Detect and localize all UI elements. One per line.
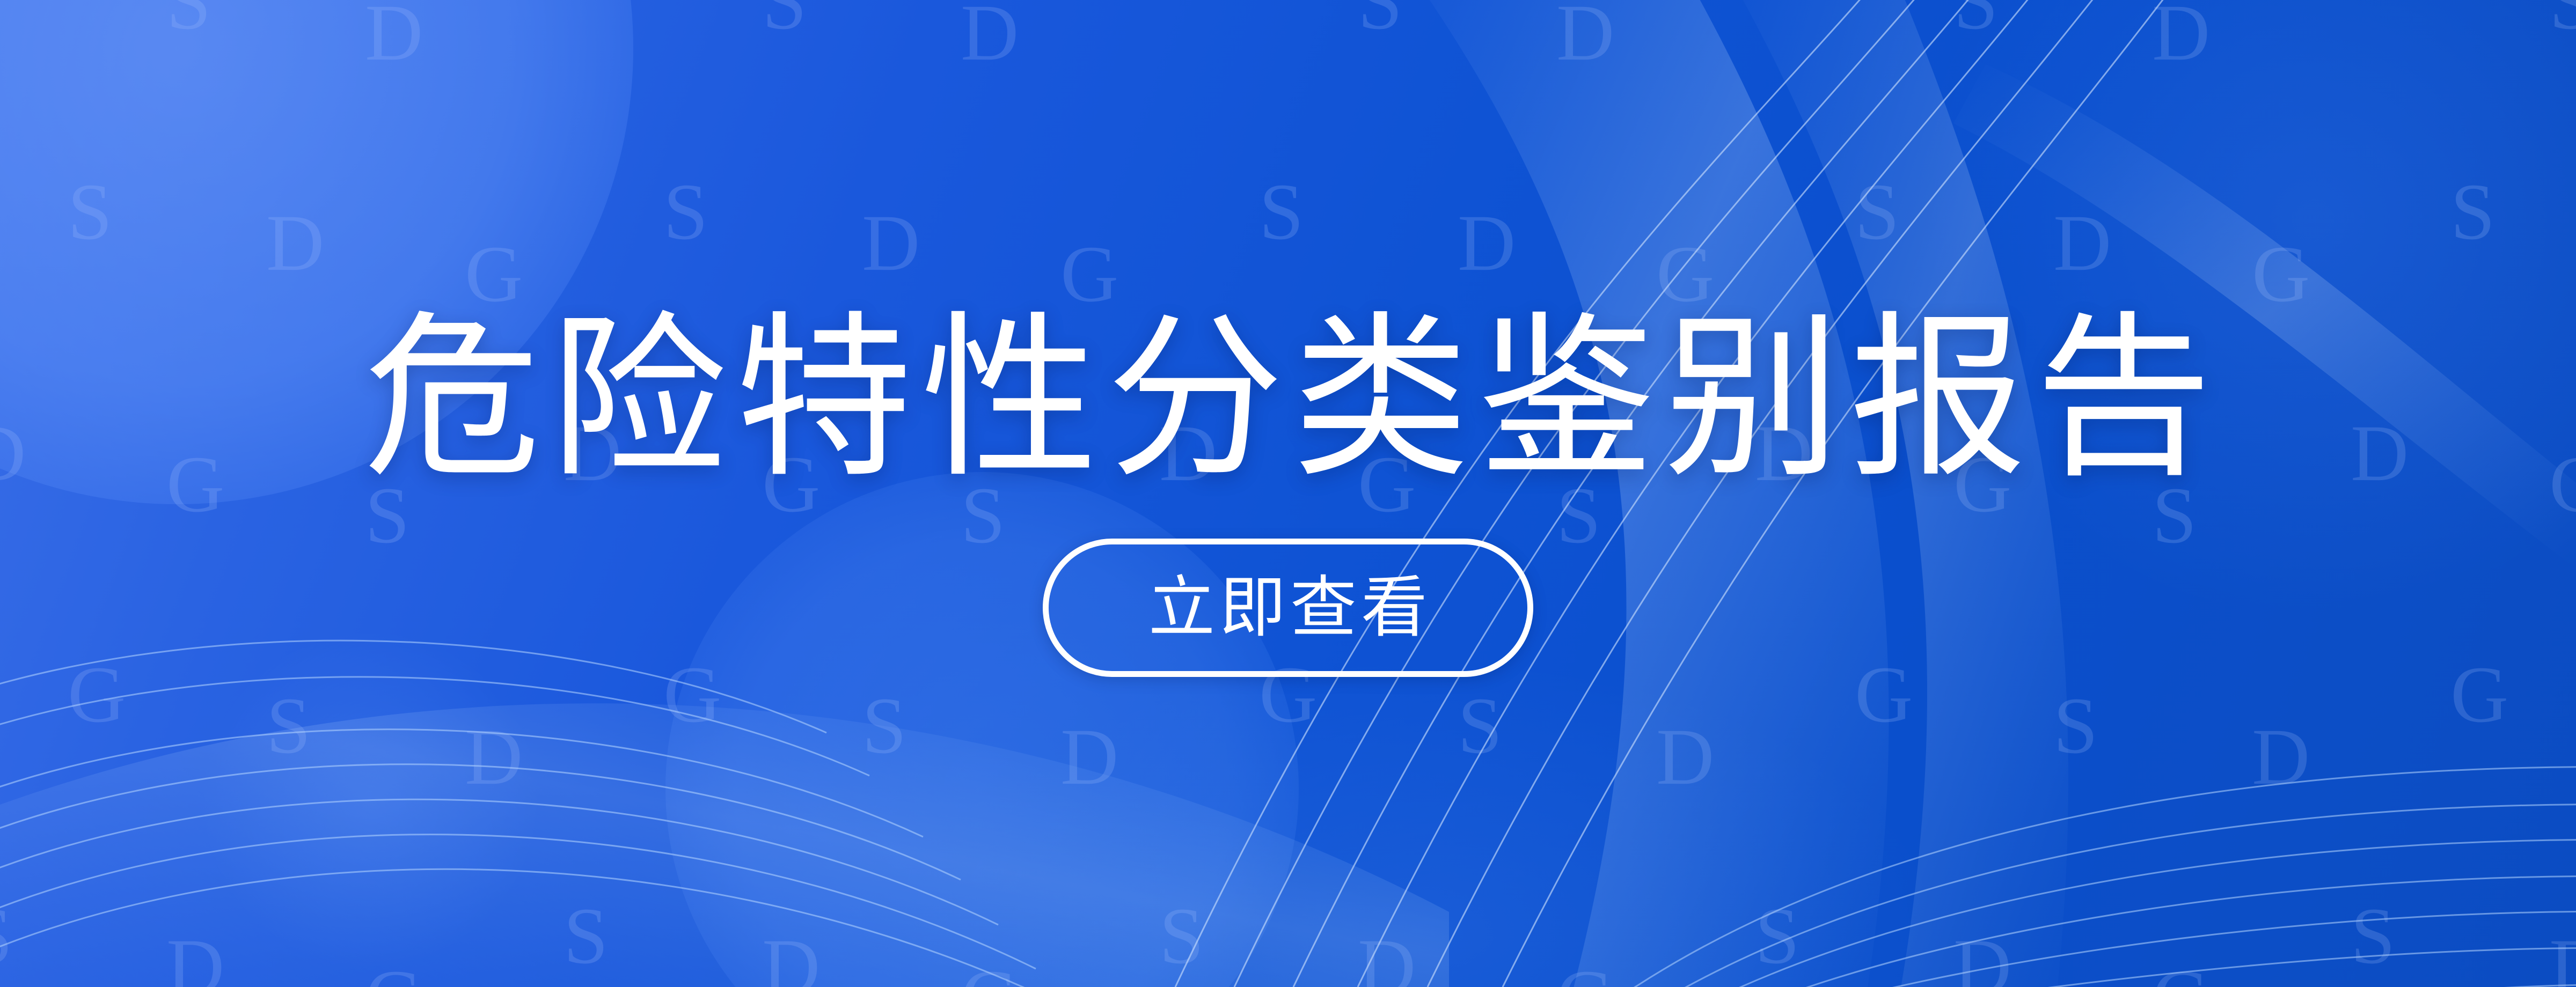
- page-title: 危险特性分类鉴别报告: [355, 310, 2221, 487]
- hazard-report-banner: DGSDGSDGSDGSDGSDGSDGSDGSDGSSDGSDGSDGSDGS…: [0, 0, 2576, 987]
- view-now-button[interactable]: 立即查看: [1043, 539, 1533, 677]
- cta-wrapper: 立即查看: [1043, 539, 1533, 677]
- banner-content: 危险特性分类鉴别报告 立即查看: [0, 0, 2576, 987]
